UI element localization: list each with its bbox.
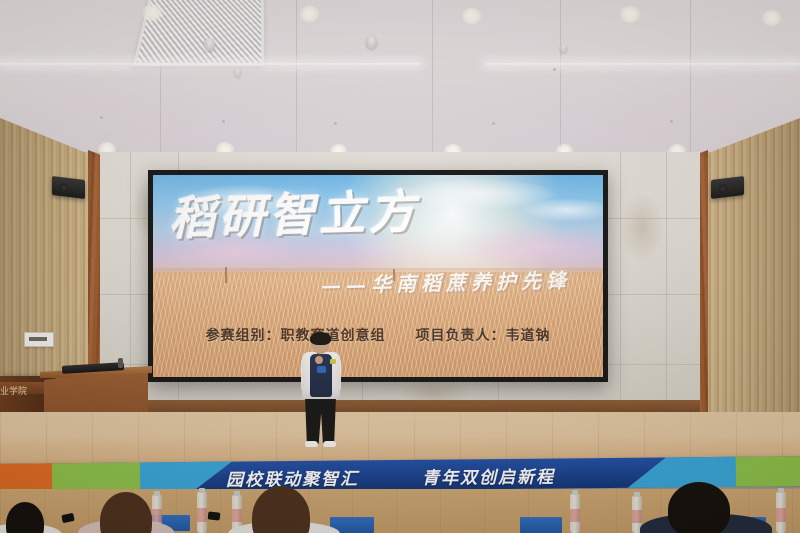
slide-subtitle: ——华南稻蔗养护先锋	[321, 264, 572, 298]
bottle-label	[232, 509, 242, 522]
ceiling-fixture-dot	[492, 122, 495, 125]
presenter-jacket-logo	[330, 359, 336, 364]
ceiling-downlight	[620, 6, 640, 23]
presenter-shoe-left	[305, 441, 318, 447]
banner-text-left: 园校联动聚智汇	[226, 464, 359, 490]
table-placard	[520, 517, 562, 533]
bottle-cap	[154, 491, 160, 496]
presenter-hand	[315, 356, 323, 364]
water-bottle	[776, 492, 786, 533]
presenter-badge	[317, 366, 326, 373]
water-bottle	[197, 492, 207, 533]
bottle-label	[197, 508, 207, 522]
bottle-cap	[199, 488, 205, 493]
left-wall-speaker	[52, 176, 85, 199]
bottle-label	[152, 509, 162, 522]
fire-sprinkler	[204, 38, 215, 51]
slide-group-label: 参赛组别：	[206, 328, 281, 344]
slide-leader-value: 韦道钠	[506, 328, 551, 344]
ceiling-fixture-dot	[553, 68, 556, 71]
distant-tower	[225, 267, 227, 283]
right-wall-speaker	[711, 176, 744, 199]
ceiling-panel-seam	[560, 0, 561, 152]
ceiling-fixture-dot	[222, 120, 225, 123]
slide-footer: 参赛组别：职教赛道创意组项目负责人：韦道钠	[153, 325, 603, 345]
linear-ceiling-light	[0, 62, 420, 66]
bottle-label	[776, 508, 786, 522]
audience-head	[668, 482, 730, 533]
fire-sprinkler	[366, 36, 377, 49]
desk-microphone[interactable]	[118, 358, 123, 368]
screenshot-root: 稻研智立方 ——华南稻蔗养护先锋 参赛组别：职教赛道创意组项目负责人：韦道钠 业…	[0, 0, 800, 533]
ceiling-fixture-dot	[670, 120, 673, 123]
ceiling	[0, 0, 800, 152]
led-presentation-screen[interactable]: 稻研智立方 ——华南稻蔗养护先锋 参赛组别：职教赛道创意组项目负责人：韦道钠	[148, 170, 608, 382]
audience-phone[interactable]	[208, 511, 221, 520]
ceiling-panel-seam	[690, 0, 691, 152]
linear-ceiling-light	[486, 62, 800, 66]
podium-institution-text: 业学院	[0, 384, 42, 397]
wall-sign-text-bar	[29, 337, 47, 341]
ceiling-fixture-dot	[334, 122, 337, 125]
ceiling-panel-seam	[296, 0, 297, 152]
bottle-cap	[572, 490, 578, 495]
stone-panel-seam	[666, 152, 667, 442]
cloud	[523, 199, 603, 221]
ceiling-downlight	[300, 6, 319, 22]
slide-surface: 稻研智立方 ——华南稻蔗养护先锋 参赛组别：职教赛道创意组项目负责人：韦道钠	[153, 175, 603, 377]
fire-sprinkler	[234, 68, 241, 77]
left-wall-sign	[24, 332, 54, 347]
presenter-shoe-right	[323, 441, 336, 447]
ceiling-downlight	[762, 10, 781, 26]
ceiling-downlight	[462, 8, 481, 24]
bottle-cap	[778, 488, 784, 493]
ceiling-panel-seam	[432, 0, 433, 152]
ceiling-downlight	[142, 4, 163, 21]
presenter-hair	[310, 332, 331, 345]
bottle-label	[632, 510, 642, 523]
stone-panel-seam	[620, 152, 621, 442]
bottle-label	[570, 509, 580, 522]
slide-title: 稻研智立方	[168, 186, 499, 241]
fire-sprinkler	[560, 44, 567, 53]
stone-texture-mark	[620, 192, 664, 262]
banner-text-right: 青年双创启新程	[422, 463, 555, 489]
water-bottle	[570, 494, 580, 533]
bottle-cap	[634, 492, 640, 497]
slide-leader-label: 项目负责人：	[416, 328, 506, 344]
slide-group-value: 职教赛道创意组	[281, 328, 386, 344]
ceiling-fixture-dot	[100, 116, 103, 119]
bottle-cap	[234, 491, 240, 496]
